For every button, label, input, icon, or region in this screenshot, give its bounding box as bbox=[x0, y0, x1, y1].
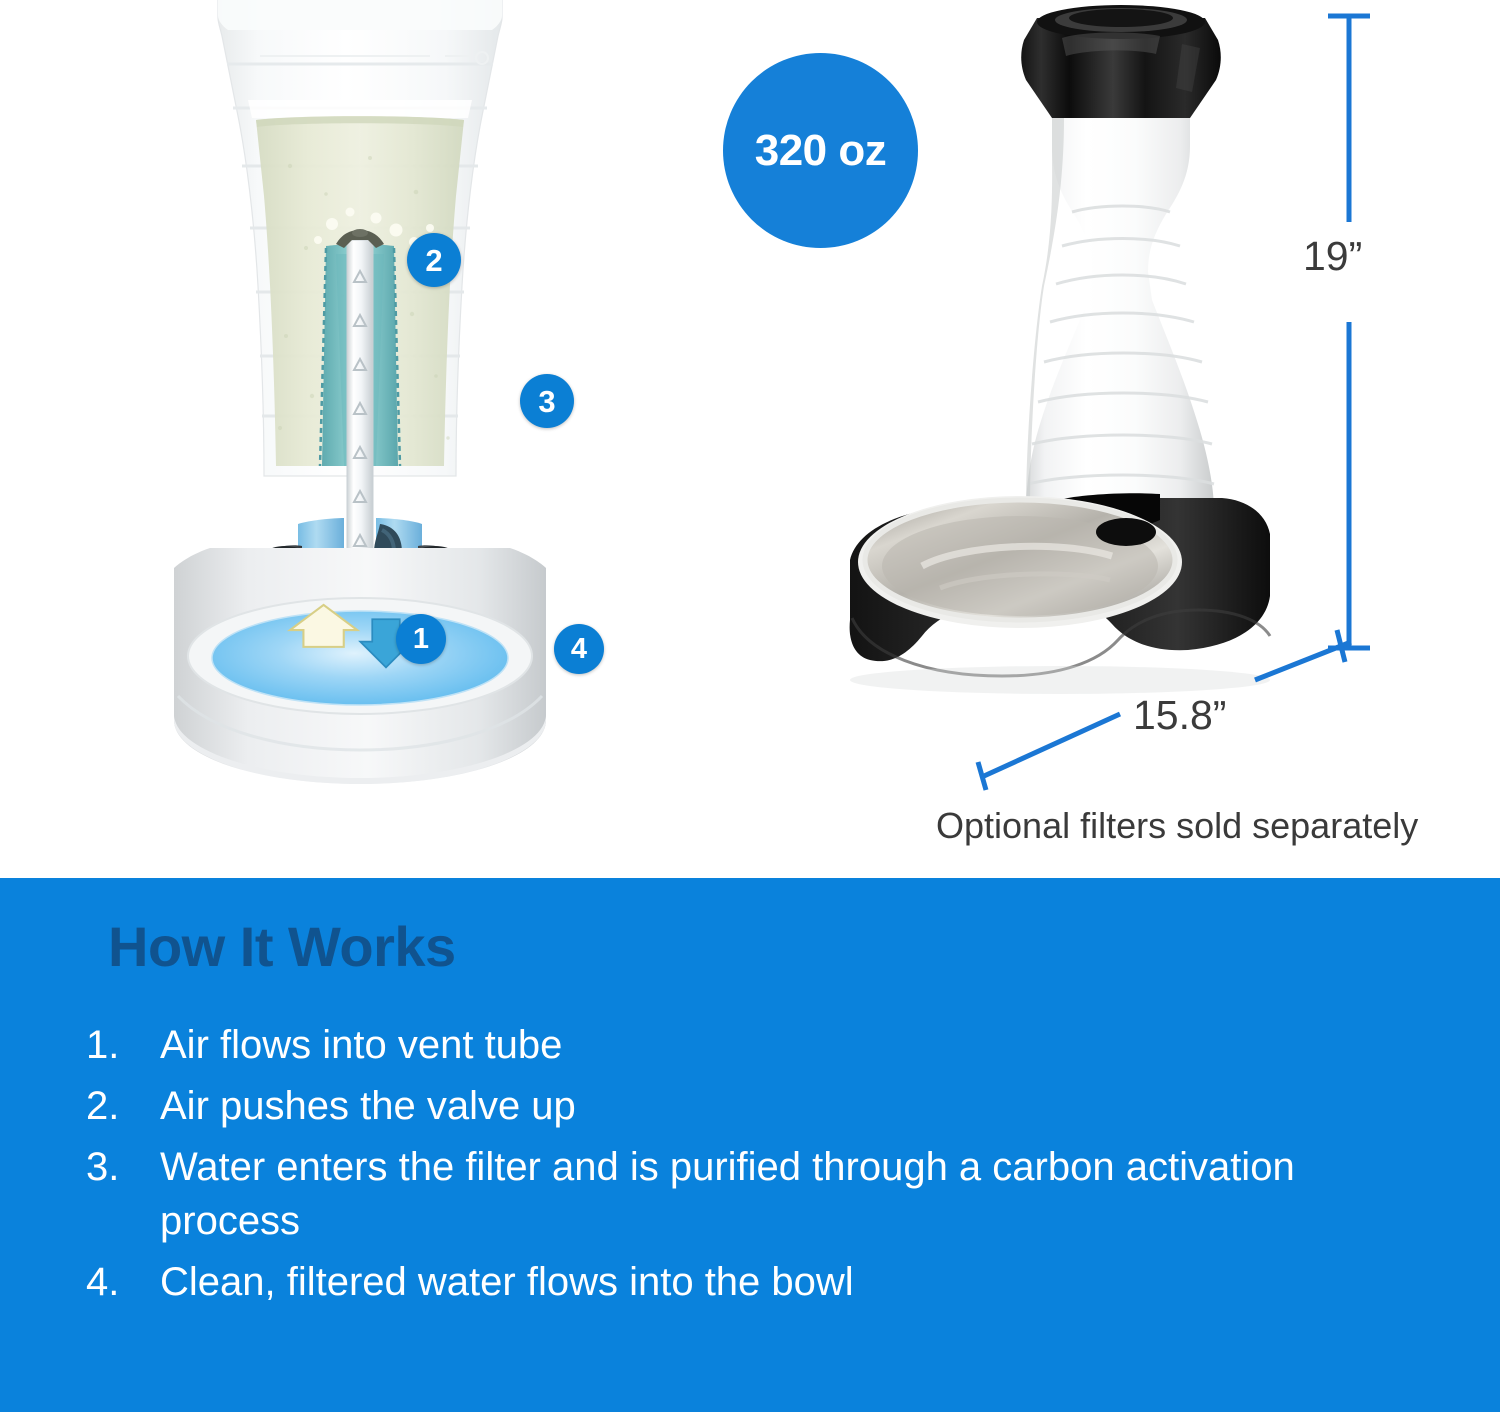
callout-number: 1 bbox=[413, 625, 429, 654]
product-photo bbox=[830, 0, 1330, 720]
how-it-works-steps: 1. Air flows into vent tube 2. Air pushe… bbox=[86, 1018, 1366, 1316]
product-infographic: 2 3 1 4 320 oz bbox=[0, 0, 1500, 1412]
list-item: 4. Clean, filtered water flows into the … bbox=[86, 1255, 1366, 1310]
cutaway-diagram: 2 3 1 4 bbox=[130, 0, 590, 806]
width-dimension-label: 15.8” bbox=[1133, 692, 1226, 739]
list-item: 2. Air pushes the valve up bbox=[86, 1079, 1366, 1134]
callout-number: 4 bbox=[571, 635, 587, 664]
callout-number: 3 bbox=[538, 386, 555, 417]
step-number: 4. bbox=[86, 1255, 160, 1310]
height-dimension-label: 19” bbox=[1303, 233, 1362, 280]
top-image-area: 2 3 1 4 320 oz bbox=[0, 0, 1500, 878]
reservoir-tank bbox=[1026, 118, 1214, 510]
step-number: 3. bbox=[86, 1140, 160, 1250]
list-item: 3. Water enters the filter and is purifi… bbox=[86, 1140, 1366, 1250]
how-it-works-panel: How It Works 1. Air flows into vent tube… bbox=[0, 878, 1500, 1412]
base-basin bbox=[174, 548, 546, 784]
how-it-works-title: How It Works bbox=[108, 914, 456, 979]
diagram-callout-4: 4 bbox=[554, 624, 604, 674]
filters-footnote: Optional filters sold separately bbox=[936, 805, 1418, 847]
diagram-callout-2: 2 bbox=[407, 233, 461, 287]
step-text: Clean, filtered water flows into the bow… bbox=[160, 1255, 1300, 1310]
step-number: 2. bbox=[86, 1079, 160, 1134]
diagram-callout-1: 1 bbox=[396, 614, 446, 664]
step-text: Air pushes the valve up bbox=[160, 1079, 1300, 1134]
callout-number: 2 bbox=[425, 245, 442, 276]
step-text: Air flows into vent tube bbox=[160, 1018, 1300, 1073]
list-item: 1. Air flows into vent tube bbox=[86, 1018, 1366, 1073]
step-text: Water enters the filter and is purified … bbox=[160, 1140, 1300, 1250]
step-number: 1. bbox=[86, 1018, 160, 1073]
reservoir-cap bbox=[1021, 5, 1221, 118]
diagram-callout-3: 3 bbox=[520, 374, 574, 428]
water-bowl bbox=[858, 496, 1182, 628]
